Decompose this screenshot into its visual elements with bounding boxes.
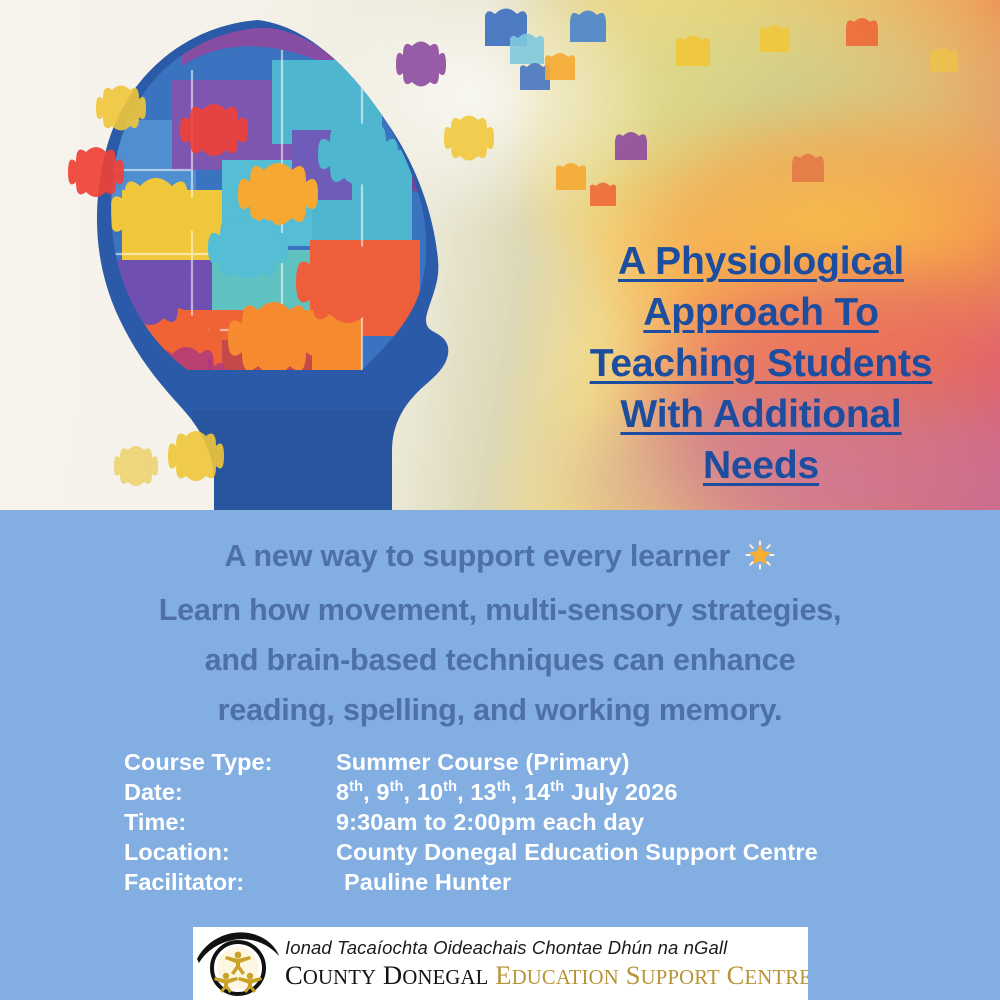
three-figures-circle-icon (195, 929, 281, 999)
title-line-2: Approach To (540, 287, 982, 338)
detail-label-date: Date: (124, 777, 336, 807)
detail-label-course-type: Course Type: (124, 747, 336, 777)
poster-subtitle: A new way to support every learner (0, 531, 1000, 735)
hero-artwork-region: A Physiological Approach To Teaching Stu… (0, 0, 1000, 512)
subtitle-line-4: reading, spelling, and working memory. (0, 685, 1000, 735)
detail-value-facilitator: Pauline Hunter (336, 867, 818, 897)
logo-name-education-support-centre: EDUCATION SUPPORT CENTRE (495, 960, 808, 990)
organisation-logo: Ionad Tacaíochta Oideachais Chontae Dhún… (193, 927, 808, 1000)
subtitle-line-2: Learn how movement, multi-sensory strate… (0, 585, 1000, 635)
subtitle-line-1: A new way to support every learner (0, 531, 1000, 585)
detail-value-course-type: Summer Course (Primary) (336, 747, 818, 777)
detail-row-location: Location: County Donegal Education Suppo… (124, 837, 818, 867)
title-line-1: A Physiological (540, 236, 982, 287)
detail-label-facilitator: Facilitator: (124, 867, 336, 897)
course-flyer: A Physiological Approach To Teaching Stu… (0, 0, 1000, 1000)
title-line-4: With Additional (540, 389, 982, 440)
logo-english-name: COUNTY DONEGAL EDUCATION SUPPORT CENTRE (285, 960, 808, 994)
detail-row-facilitator: Facilitator: Pauline Hunter (124, 867, 818, 897)
sun-icon (745, 535, 775, 585)
detail-row-time: Time: 9:30am to 2:00pm each day (124, 807, 818, 837)
detail-value-time: 9:30am to 2:00pm each day (336, 807, 818, 837)
detail-label-location: Location: (124, 837, 336, 867)
detail-row-course-type: Course Type: Summer Course (Primary) (124, 747, 818, 777)
logo-irish-name: Ionad Tacaíochta Oideachais Chontae Dhún… (285, 936, 808, 960)
subtitle-line-1-text: A new way to support every learner (225, 539, 731, 573)
detail-value-date: 8th, 9th, 10th, 13th, 14th July 2026 (336, 777, 818, 807)
title-line-3: Teaching Students (540, 338, 982, 389)
detail-label-time: Time: (124, 807, 336, 837)
title-line-5: Needs (540, 440, 982, 491)
poster-title: A Physiological Approach To Teaching Stu… (540, 236, 982, 491)
detail-row-date: Date: 8th, 9th, 10th, 13th, 14th July 20… (124, 777, 818, 807)
logo-name-county-donegal: COUNTY DONEGAL (285, 960, 495, 990)
logo-wordmark: Ionad Tacaíochta Oideachais Chontae Dhún… (281, 934, 808, 994)
subtitle-line-3: and brain-based techniques can enhance (0, 635, 1000, 685)
course-details: Course Type: Summer Course (Primary) Dat… (124, 747, 818, 897)
detail-value-location: County Donegal Education Support Centre (336, 837, 818, 867)
